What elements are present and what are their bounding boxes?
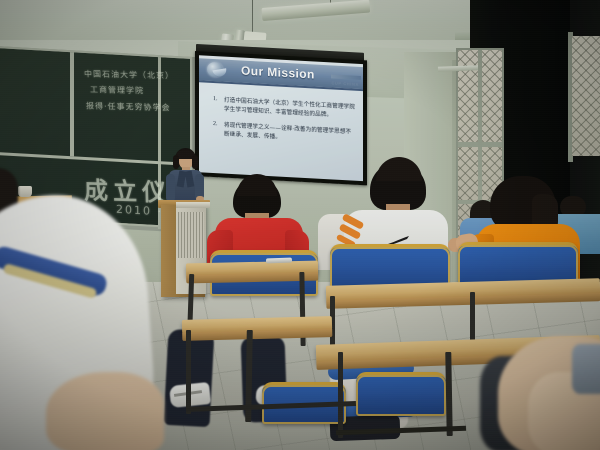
chair-trim: [356, 375, 446, 416]
slide-bullet-number: 2.: [213, 121, 224, 139]
presenter-hair-side-left: [173, 155, 179, 169]
light-wire: [252, 0, 253, 36]
slide-bullet-text: 打造中国石油大学（北京）学生个性化工商管理学院学生学习管理知识、丰富管理经验的品…: [224, 97, 355, 121]
blackboard-text-line-3: 报得·任事无穷协学会: [86, 101, 171, 114]
classroom-photo: 中国石油大学（北京） 工商管理学院 报得·任事无穷协学会 成立仪式 2010 ·…: [0, 0, 600, 450]
foreground-person-arm: [46, 372, 164, 450]
presenter-hair-side-right: [192, 155, 198, 169]
slide-bullet-list: 1. 打造中国石油大学（北京）学生个性化工商管理学院学生学习管理知识、丰富管理经…: [213, 96, 355, 154]
desk-leg: [470, 292, 475, 346]
student-red-hair-top: [237, 174, 277, 196]
item-on-desk: [266, 258, 292, 264]
blackboard-divider-vertical: [70, 52, 74, 156]
slide-bullet-item: 2. 将现代管理学之义——诠释·改善为的管理学思想不断继承、发展、传播。: [213, 121, 355, 146]
podium-grille: [178, 212, 204, 258]
window-far-right: [572, 36, 600, 156]
blackboard-text-line-1: 中国石油大学（北京）: [84, 68, 174, 81]
cup-on-desk: [18, 186, 32, 197]
foreground-right-sleeve: [572, 344, 600, 394]
slide-bullet-number: 1.: [213, 96, 224, 114]
window-far-mesh-grille: [572, 36, 600, 156]
desk-leg: [186, 330, 191, 414]
presenter-arm-left: [166, 174, 175, 202]
blackboard-divider-horizontal: [0, 152, 194, 166]
slide-bullet-item: 1. 打造中国石油大学（北京）学生个性化工商管理学院学生学习管理知识、丰富管理经…: [213, 96, 355, 121]
desk-row-2-left: [182, 316, 332, 334]
slide-bullet-text: 将现代管理学之义——诠释·改善为的管理学思想不断继承、发展、传播。: [224, 122, 355, 146]
desk-leg: [338, 352, 343, 438]
chair-row-2-right: [356, 372, 446, 416]
desk-row-1-middle: [186, 261, 318, 277]
blackboard-text-line-2: 工商管理学院: [90, 84, 144, 96]
